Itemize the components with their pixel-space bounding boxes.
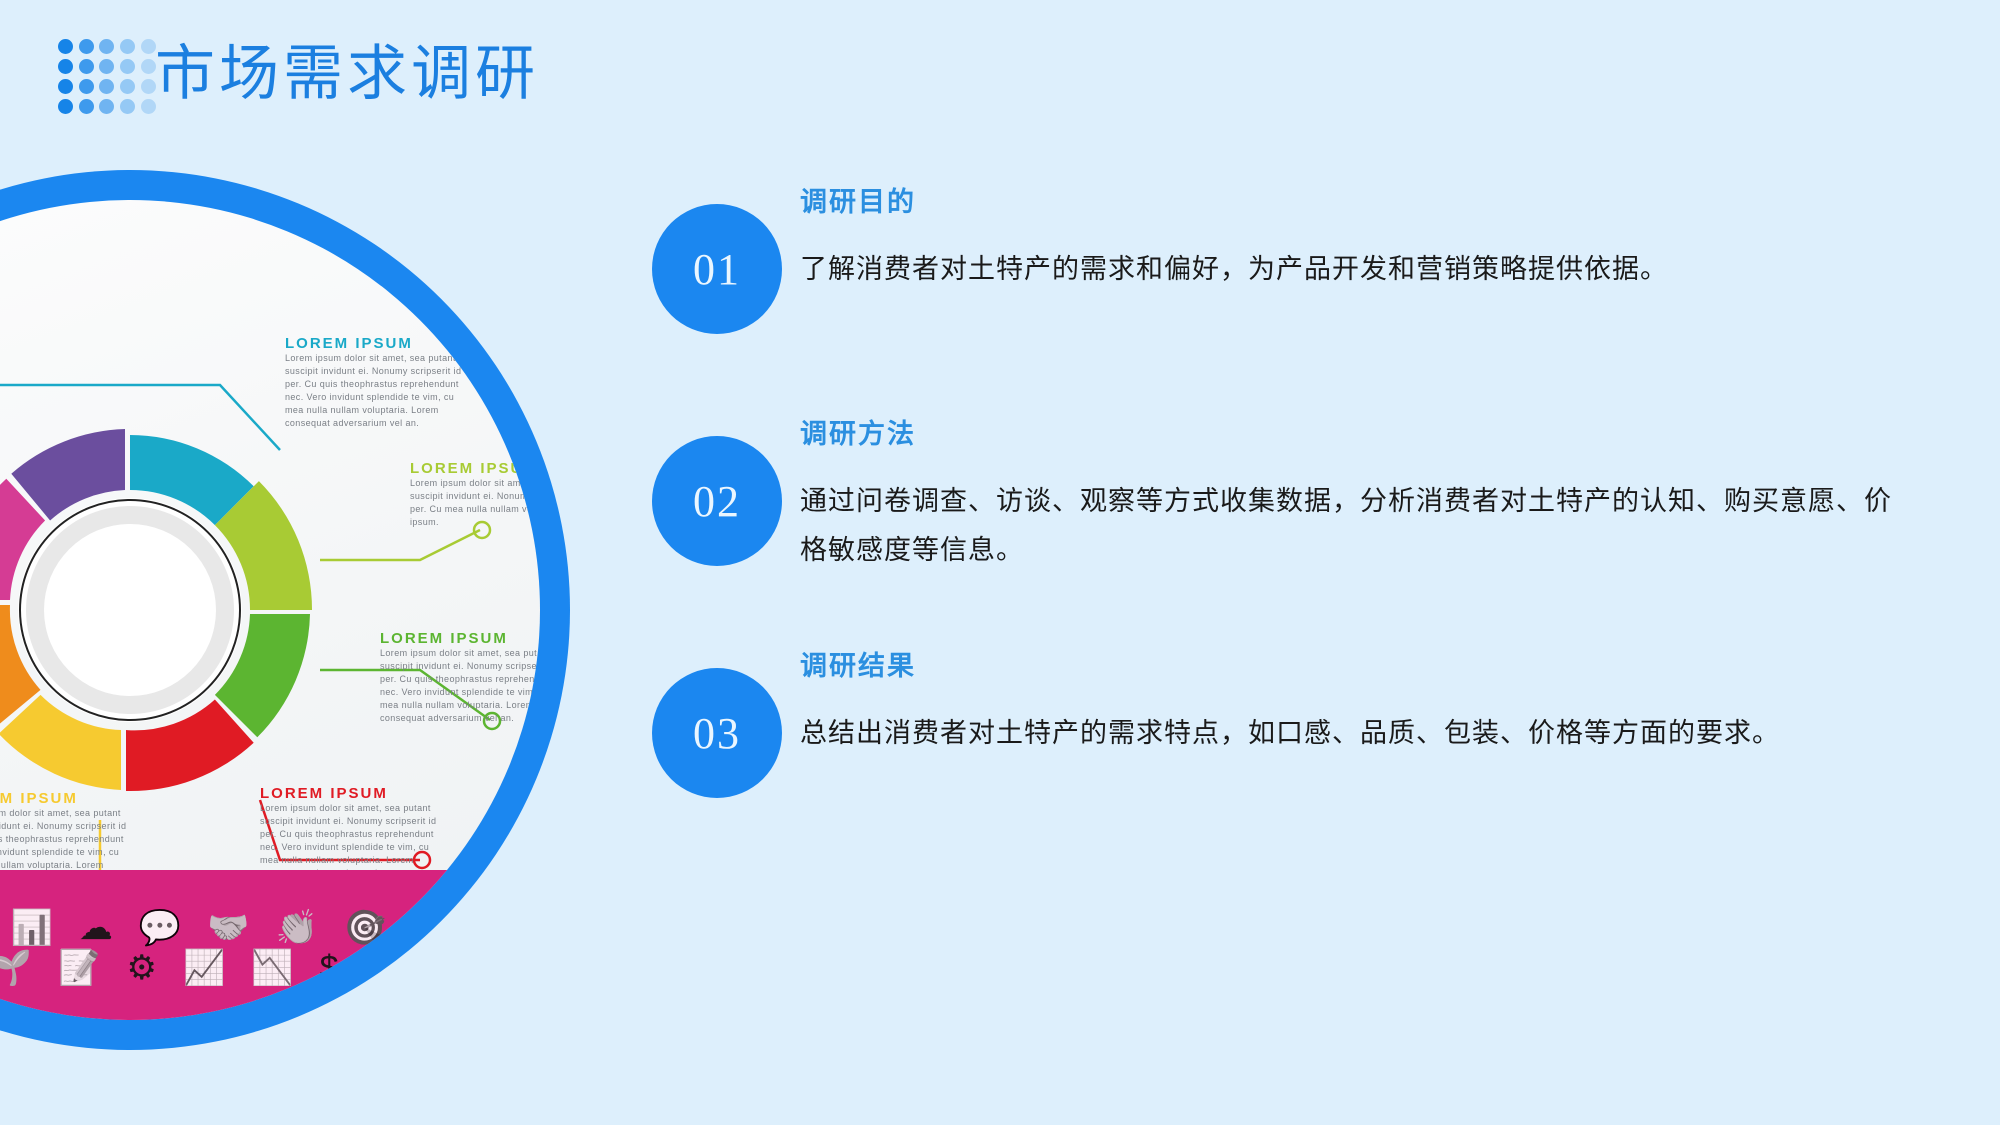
gear-icon: ⚙ [126,951,156,985]
slide-header: 市场需求调研 [0,0,2000,160]
item-title: 调研方法 [800,412,1940,451]
speech-bubble-icon: 💬 [139,911,181,945]
donut-infographic: LOREM IPSUM Lorem ipsum dolor sit amet, … [0,170,570,1050]
item-body: 通过问卷调查、访谈、观察等方式收集数据，分析消费者对土特产的认知、购买意愿、价格… [800,477,1900,575]
content-item-03: 03 调研结果 总结出消费者对土特产的需求特点，如口感、品质、包装、价格等方面的… [640,644,1960,876]
clock-icon: ⏰ [412,911,454,945]
dot-grid-icon [55,36,159,116]
step-badge-03[interactable]: 03 [652,668,782,798]
content-item-01: 01 调研目的 了解消费者对土特产的需求和偏好，为产品开发和营销策略提供依据。 [640,180,1960,412]
hands-icon: 👏 [276,911,318,945]
item-body: 了解消费者对土特产的需求和偏好，为产品开发和营销策略提供依据。 [800,245,1900,294]
cloud-icon: ☁ [79,911,113,945]
signal-bars-icon: 📈 [183,951,225,985]
callout-2: LOREM IPSUM Lorem ipsum dolor sit amet, … [410,460,540,529]
content-item-02: 02 调研方法 通过问卷调查、访谈、观察等方式收集数据，分析消费者对土特产的认知… [640,412,1960,644]
document-edit-icon: 📝 [58,951,100,985]
item-title: 调研目的 [800,180,1940,219]
line-chart-icon: 📉 [251,951,293,985]
dollar-icon: $ [320,951,339,985]
icon-row-2: 👥 🌱 📝 ⚙ 📈 📉 $ [0,951,339,985]
step-number: 03 [693,708,741,759]
target-icon: 🎯 [344,911,386,945]
step-badge-01[interactable]: 01 [652,204,782,334]
content-item-text: 调研方法 通过问卷调查、访谈、观察等方式收集数据，分析消费者对土特产的认知、购买… [800,412,1940,575]
step-number: 02 [693,476,741,527]
callout-1: LOREM IPSUM Lorem ipsum dolor sit amet, … [285,335,475,430]
content-item-text: 调研目的 了解消费者对土特产的需求和偏好，为产品开发和营销策略提供依据。 [800,180,1940,294]
step-badge-02[interactable]: 02 [652,436,782,566]
icon-strip: 👥 🔍 💡 📊 ☁ 💬 🤝 👏 🎯 ⏰ 👥 🌱 📝 ⚙ 📈 [0,870,540,1020]
callout-4: LOREM IPSUM Lorem ipsum dolor sit amet, … [260,785,450,880]
hand-plant-icon: 🌱 [0,951,32,985]
icon-row-1: 👥 🔍 💡 📊 ☁ 💬 🤝 👏 🎯 ⏰ [0,911,455,945]
item-title: 调研结果 [800,644,1940,683]
bar-chart-icon: 📊 [10,911,52,945]
callout-3: LOREM IPSUM Lorem ipsum dolor sit amet, … [380,630,540,725]
content-item-text: 调研结果 总结出消费者对土特产的需求特点，如口感、品质、包装、价格等方面的要求。 [800,644,1940,758]
content-list: 01 调研目的 了解消费者对土特产的需求和偏好，为产品开发和营销策略提供依据。 … [640,180,1960,876]
page-title: 市场需求调研 [155,38,539,110]
slide-root: 市场需求调研 [0,0,2000,1125]
item-body: 总结出消费者对土特产的需求特点，如口感、品质、包装、价格等方面的要求。 [800,709,1900,758]
infographic-canvas: LOREM IPSUM Lorem ipsum dolor sit amet, … [0,200,540,1020]
donut-segments [0,429,312,791]
handshake-icon: 🤝 [207,911,249,945]
step-number: 01 [693,244,741,295]
